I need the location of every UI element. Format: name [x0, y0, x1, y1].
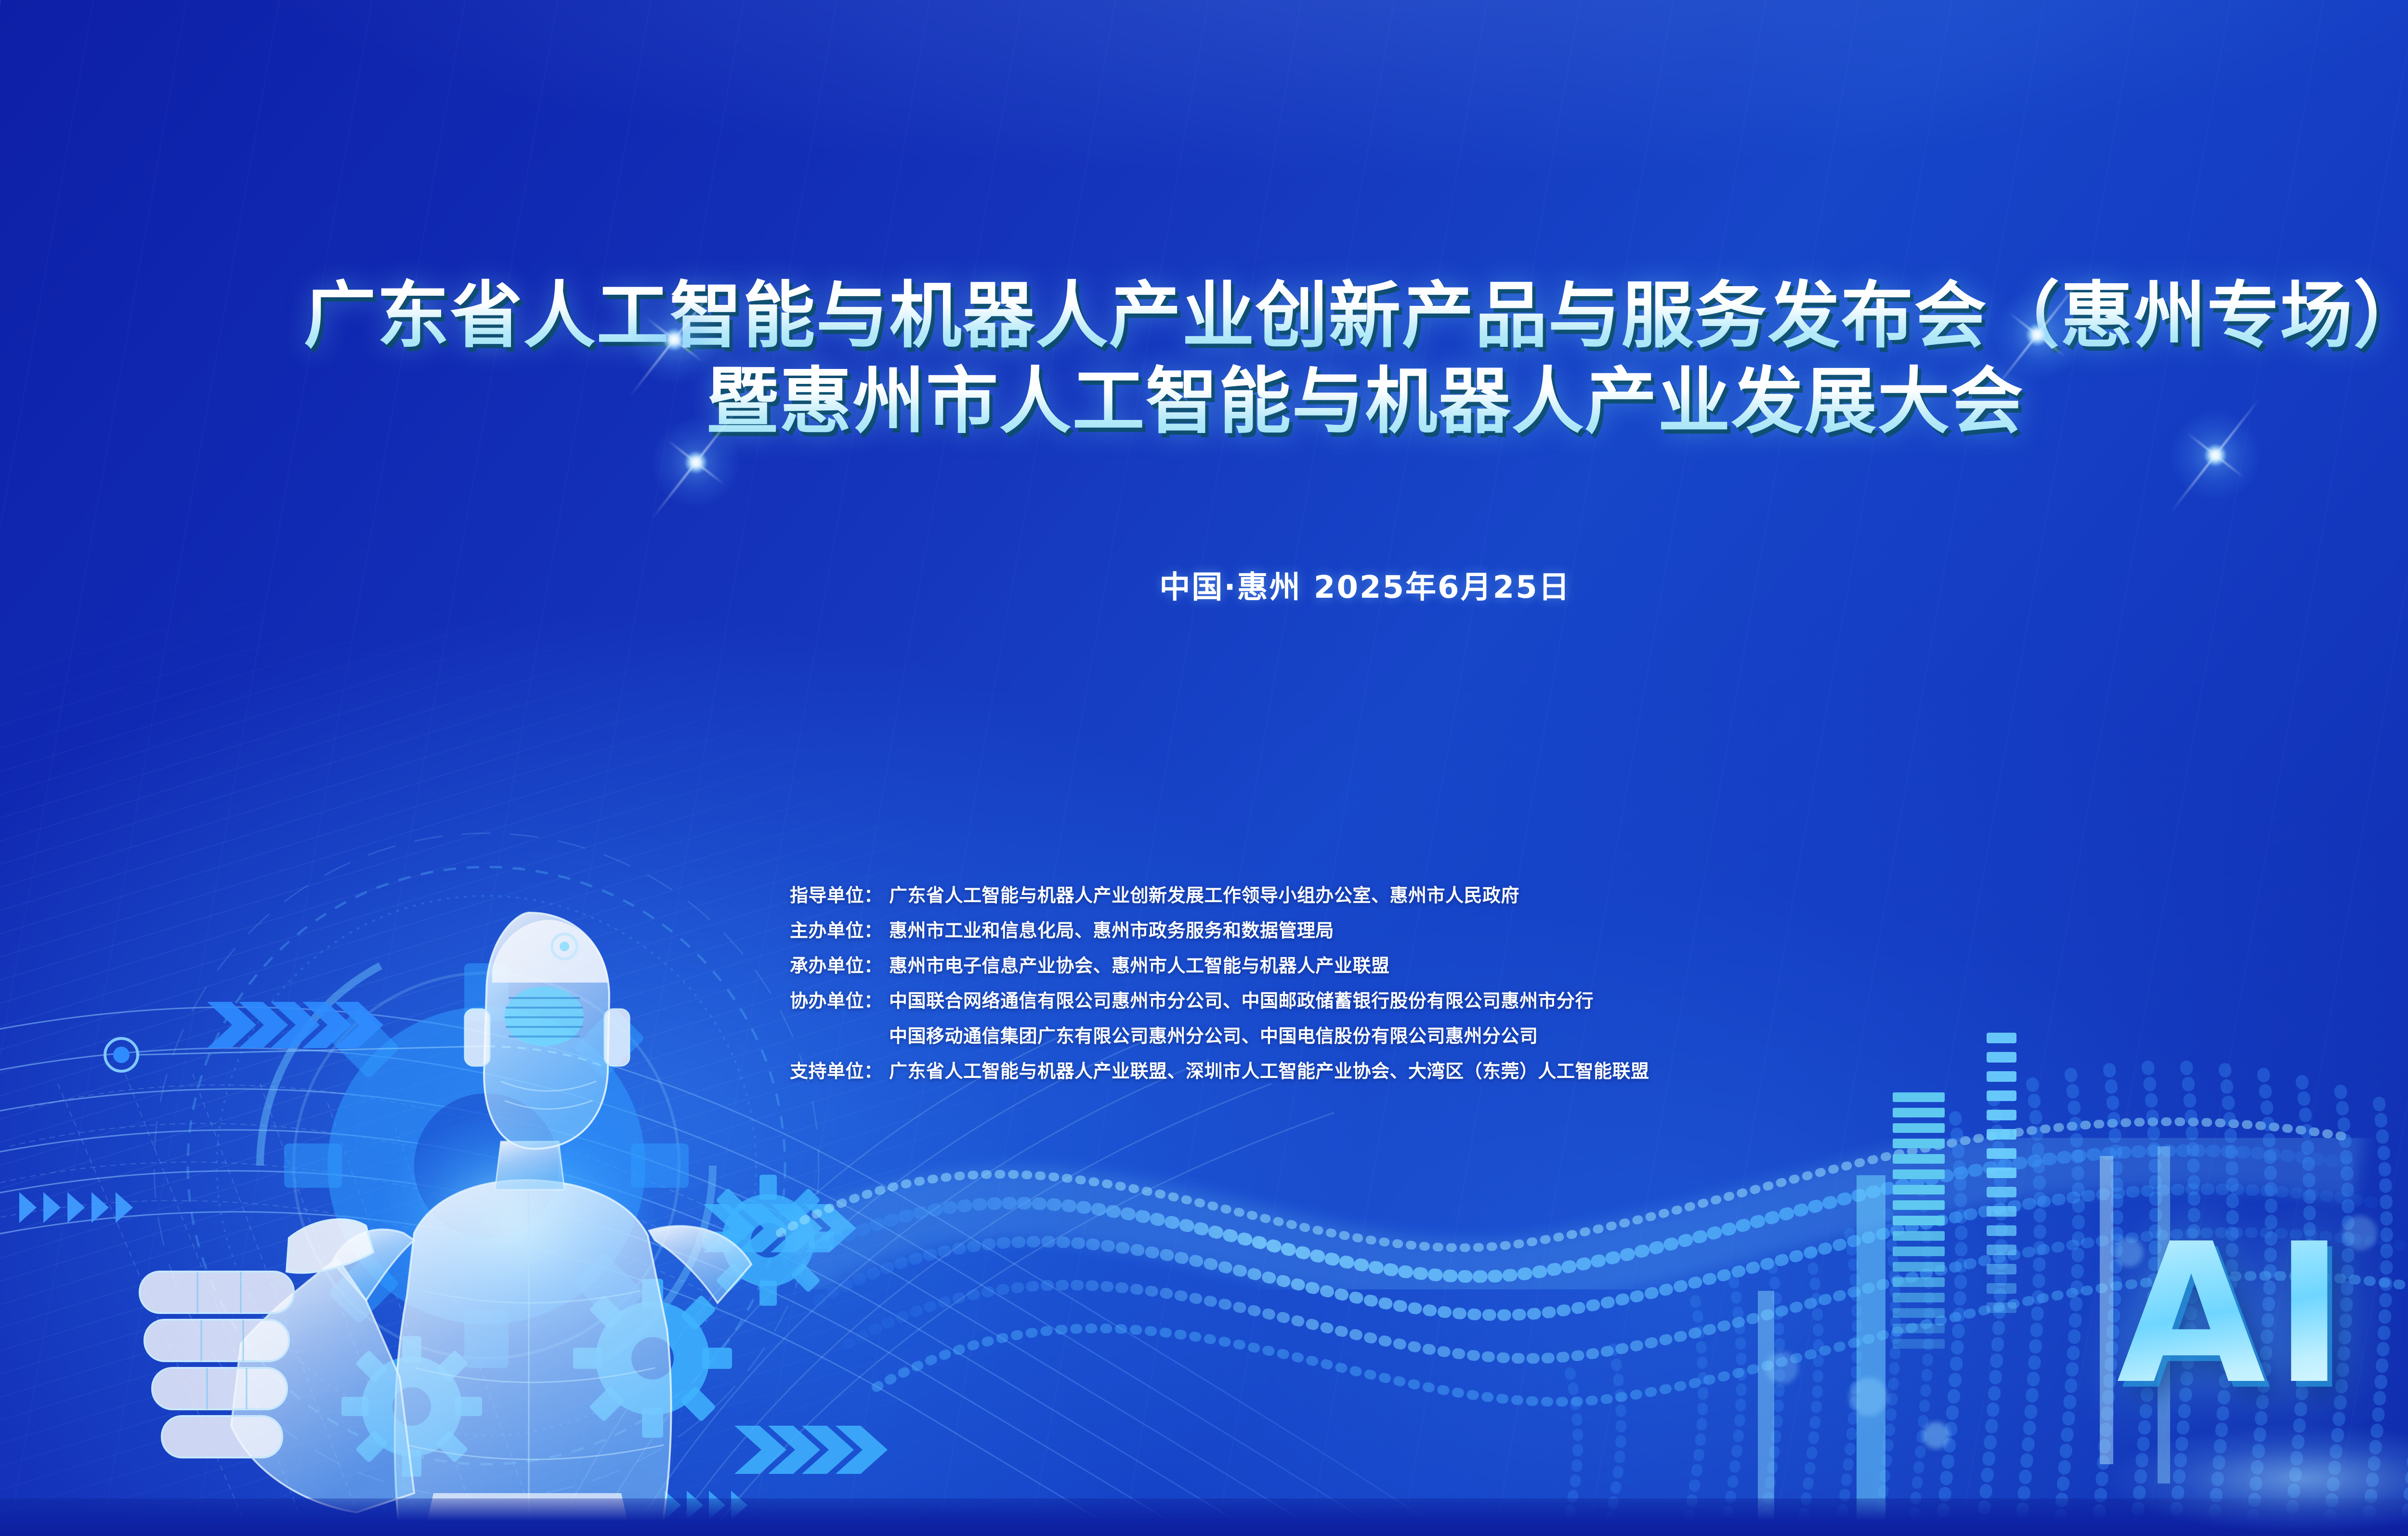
organizer-value: 广东省人工智能与机器人产业创新发展工作领导小组办公室、惠州市人民政府 [889, 880, 1519, 907]
organizers-block: 指导单位： 广东省人工智能与机器人产业创新发展工作领导小组办公室、惠州市人民政府… [790, 880, 1649, 1091]
organizer-value: 中国联合网络通信有限公司惠州市分公司、中国邮政储蓄银行股份有限公司惠州市分行 [889, 986, 1594, 1012]
title-line-1: 广东省人工智能与机器人产业创新产品与服务发布会（惠州专场） [0, 277, 2408, 355]
title-line-2: 暨惠州市人工智能与机器人产业发展大会 [0, 363, 2408, 441]
ai-logo-text: AI [2117, 1219, 2353, 1411]
bottom-band [0, 1498, 2408, 1536]
organizer-label: 承办单位： [790, 951, 889, 977]
organizer-value: 广东省人工智能与机器人产业联盟、深圳市人工智能产业协会、大湾区（东莞）人工智能联… [889, 1056, 1649, 1083]
organizer-row-coorganizer-continued: 中国移动通信集团广东有限公司惠州分公司、中国电信股份有限公司惠州分公司 [790, 1021, 1649, 1048]
title-block: 广东省人工智能与机器人产业创新产品与服务发布会（惠州专场） 暨惠州市人工智能与机… [0, 277, 2408, 441]
organizer-label: 协办单位： [790, 986, 889, 1012]
bottom-glow [0, 1141, 2408, 1536]
organizer-value: 惠州市工业和信息化局、惠州市政务服务和数据管理局 [889, 916, 1334, 942]
organizer-label: 主办单位： [790, 916, 889, 942]
organizer-row-support: 支持单位： 广东省人工智能与机器人产业联盟、深圳市人工智能产业协会、大湾区（东莞… [790, 1056, 1649, 1083]
organizer-row-host: 主办单位： 惠州市工业和信息化局、惠州市政务服务和数据管理局 [790, 916, 1649, 942]
location-date: 中国·惠州 2025年6月25日 [0, 563, 2408, 607]
organizer-row-organizer: 承办单位： 惠州市电子信息产业协会、惠州市人工智能与机器人产业联盟 [790, 951, 1649, 977]
organizer-value: 中国移动通信集团广东有限公司惠州分公司、中国电信股份有限公司惠州分公司 [889, 1021, 1538, 1048]
organizer-row-guidance: 指导单位： 广东省人工智能与机器人产业创新发展工作领导小组办公室、惠州市人民政府 [790, 880, 1649, 907]
organizer-value: 惠州市电子信息产业协会、惠州市人工智能与机器人产业联盟 [889, 951, 1390, 977]
organizer-label: 支持单位： [790, 1056, 889, 1083]
organizer-label: 指导单位： [790, 880, 889, 907]
conference-banner: AI 广东省人工智能与机器人产业创新产品与服务发布会（惠州专场） 暨惠州市人工智… [0, 0, 2408, 1536]
organizer-row-coorganizer: 协办单位： 中国联合网络通信有限公司惠州市分公司、中国邮政储蓄银行股份有限公司惠… [790, 986, 1649, 1012]
